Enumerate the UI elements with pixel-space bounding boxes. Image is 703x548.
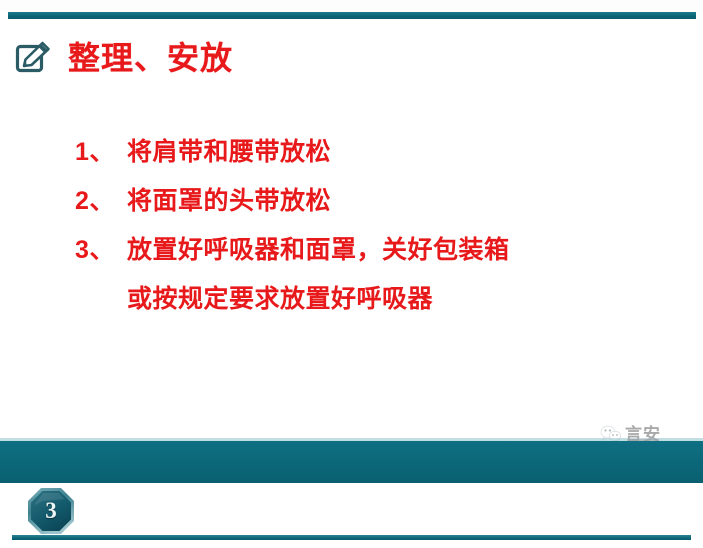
- list-item-text: 将肩带和腰带放松: [127, 128, 331, 177]
- list-item-text: 将面罩的头带放松: [127, 177, 331, 226]
- list-item-text: 放置好呼吸器和面罩，关好包装箱: [127, 226, 510, 275]
- footer-accent-band: [0, 441, 703, 483]
- list-item-continuation: 或按规定要求放置好呼吸器: [75, 275, 675, 324]
- instruction-list: 1、 将肩带和腰带放松 2、 将面罩的头带放松 3、 放置好呼吸器和面罩，关好包…: [75, 128, 675, 324]
- page-title: 整理、安放: [68, 42, 233, 74]
- list-item-marker: 2、: [75, 177, 127, 226]
- page-number-badge: 3: [27, 487, 75, 535]
- list-item-text: 或按规定要求放置好呼吸器: [127, 275, 433, 324]
- list-item: 1、 将肩带和腰带放松: [75, 128, 675, 177]
- list-item: 2、 将面罩的头带放松: [75, 177, 675, 226]
- page-number: 3: [27, 487, 75, 535]
- bottom-accent-rule: [12, 535, 691, 540]
- top-ghost-strip: [0, 0, 703, 11]
- edit-pencil-icon: [14, 38, 54, 78]
- top-accent-rule: [8, 12, 696, 19]
- list-item: 3、 放置好呼吸器和面罩，关好包装箱: [75, 226, 675, 275]
- list-item-marker: 3、: [75, 226, 127, 275]
- slide: 整理、安放 1、 将肩带和腰带放松 2、 将面罩的头带放松 3、 放置好呼吸器和…: [0, 0, 703, 548]
- list-item-marker: 1、: [75, 128, 127, 177]
- slide-title-row: 整理、安放: [14, 38, 233, 78]
